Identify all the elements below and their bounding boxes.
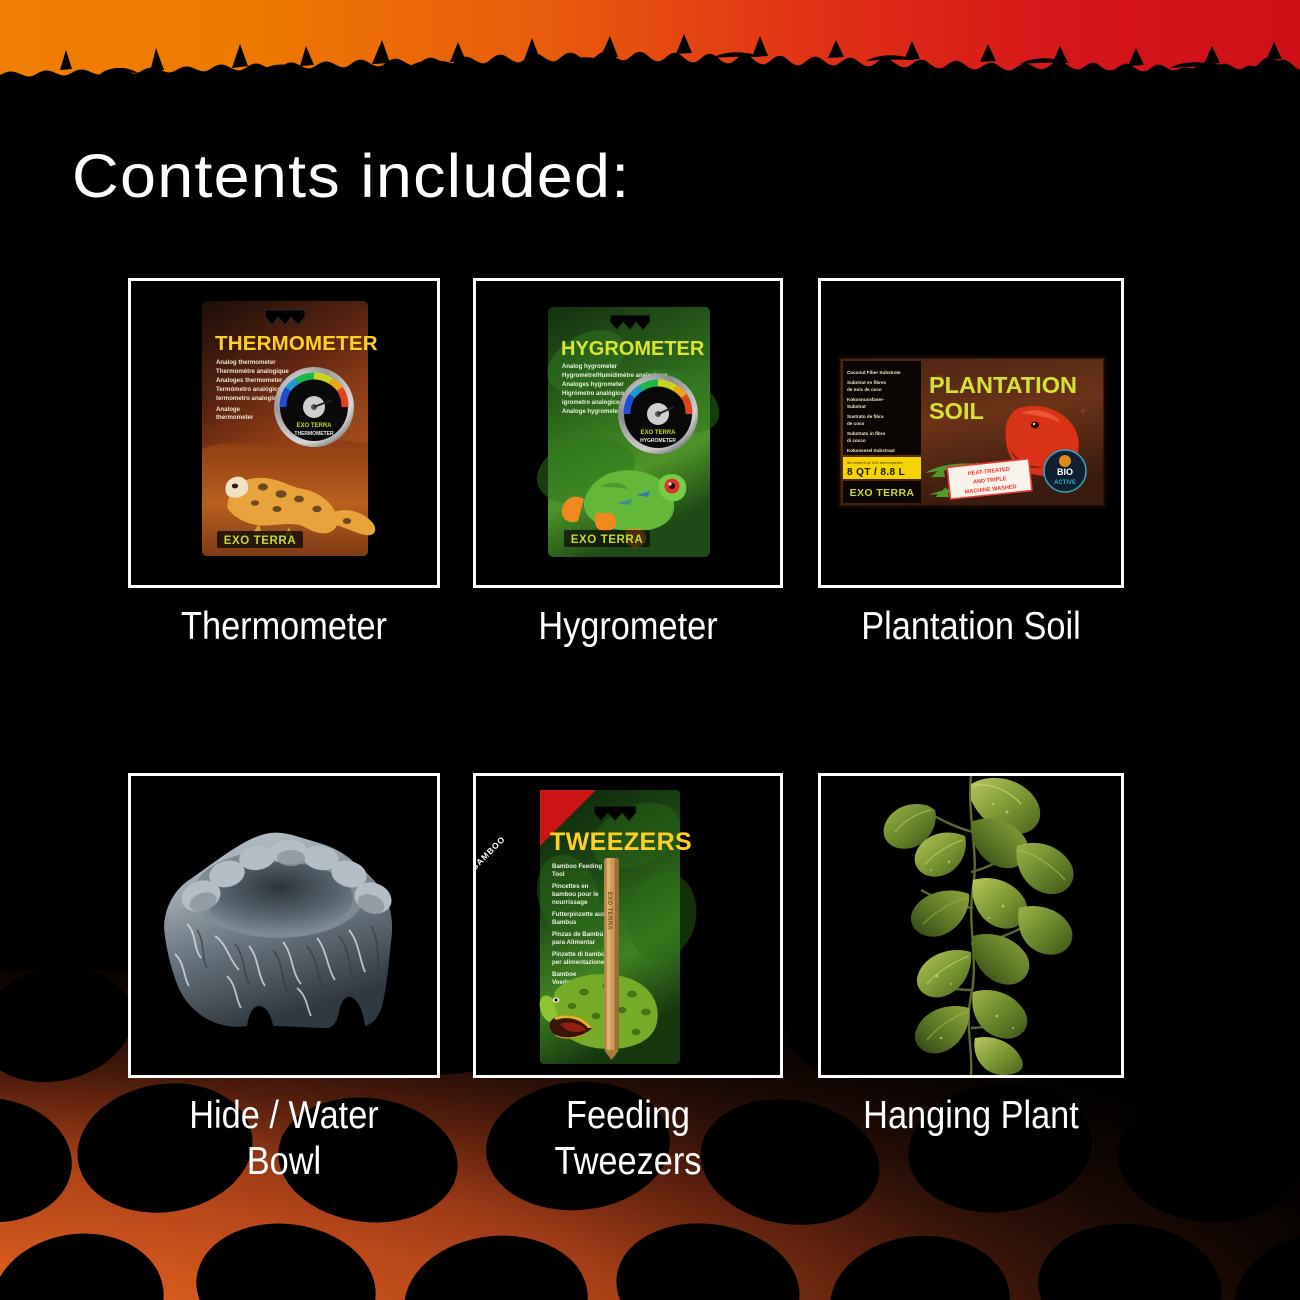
svg-text:thermometer: thermometer	[216, 414, 254, 421]
svg-text:Pinzette di bambù: Pinzette di bambù	[552, 951, 605, 958]
svg-text:EXO TERRA: EXO TERRA	[571, 534, 644, 546]
analog-gauge-graphic: EXO TERRA THERMOMETER	[274, 367, 354, 447]
svg-text:Bamboo Feeding: Bamboo Feeding	[552, 863, 602, 870]
svg-text:EXO TERRA: EXO TERRA	[224, 535, 297, 547]
svg-text:Net content 8 qt / 8.8 L when: Net content 8 qt / 8.8 L when expanded	[847, 461, 903, 465]
svg-text:igrometro analogico: igrometro analogico	[562, 400, 620, 406]
svg-text:EXO TERRA: EXO TERRA	[296, 423, 332, 429]
svg-text:bambou pour le: bambou pour le	[552, 891, 599, 898]
thermometer-title: THERMOMETER	[215, 332, 378, 355]
hanging-plant-illustration	[821, 776, 1121, 1075]
svg-text:Analoge hygrometer: Analoge hygrometer	[562, 409, 621, 415]
product-image-hanging-plant[interactable]	[818, 773, 1124, 1078]
svg-text:Termómetro analógico: Termómetro analógico	[216, 386, 282, 393]
hygrometer-title: HYGROMETER	[561, 338, 705, 360]
svg-text:HYGROMETER: HYGROMETER	[640, 438, 676, 444]
svg-text:Coconut Fiber Substrate: Coconut Fiber Substrate	[847, 370, 901, 375]
contents-included-page: Contents included:	[0, 0, 1300, 1300]
svg-text:de coco: de coco	[847, 421, 865, 426]
product-image-hygrometer[interactable]: HYGROMETER Analog hygrometer Hygromètre/…	[473, 278, 783, 588]
svg-text:Analog thermometer: Analog thermometer	[216, 359, 276, 366]
svg-text:Bamboe: Bamboe	[552, 971, 577, 978]
thermometer-package-illustration: THERMOMETER Analog thermometer Thermomèt…	[131, 281, 437, 585]
svg-text:nourrissage: nourrissage	[552, 899, 588, 906]
torn-edge-graphic	[0, 0, 1300, 92]
svg-text:EXO TERRA: EXO TERRA	[850, 487, 915, 499]
svg-text:termometro analogico: termometro analogico	[216, 395, 280, 402]
svg-text:de noix de coco: de noix de coco	[847, 387, 882, 392]
plantation-soil-title-line1: PLANTATION	[929, 372, 1077, 398]
svg-text:di cocco: di cocco	[847, 438, 866, 443]
product-image-thermometer[interactable]: THERMOMETER Analog thermometer Thermomèt…	[128, 278, 440, 588]
svg-text:Tool: Tool	[552, 871, 565, 878]
svg-text:Substrat en fibres: Substrat en fibres	[847, 380, 887, 385]
caption-hygrometer: Hygrometer	[474, 604, 782, 650]
product-image-hide-water-bowl[interactable]	[128, 773, 440, 1078]
svg-text:Bambus: Bambus	[552, 919, 577, 926]
exo-terra-logo-hygrometer: EXO TERRA	[564, 530, 650, 547]
bamboo-tweezers-package-illustration: BAMBOO TWEEZERS Bamboo Feeding Tool Pinc…	[476, 776, 780, 1075]
caption-hanging-plant: Hanging Plant	[819, 1093, 1123, 1139]
svg-text:ACTIVE: ACTIVE	[1054, 480, 1076, 486]
plantation-soil-title-line2: SOIL	[929, 398, 984, 424]
tweezers-title: TWEEZERS	[550, 828, 692, 856]
svg-text:Higrómetro analógico: Higrómetro analógico	[562, 391, 624, 397]
bamboo-tweezer-product: EXO TERRA	[604, 858, 619, 1060]
svg-text:Pincettes en: Pincettes en	[552, 883, 589, 890]
svg-text:THERMOMETER: THERMOMETER	[294, 431, 334, 437]
header-banner	[0, 0, 1300, 92]
svg-text:Futterpinzette aus: Futterpinzette aus	[552, 911, 606, 918]
hygrometer-package-illustration: HYGROMETER Analog hygrometer Hygromètre/…	[476, 281, 780, 585]
svg-text:per alimentazione: per alimentazione	[552, 959, 605, 966]
svg-text:Sustrato de fibra: Sustrato de fibra	[847, 414, 884, 419]
svg-text:Kokosvezel Substraat: Kokosvezel Substraat	[847, 448, 895, 453]
svg-text:Analoge: Analoge	[216, 406, 241, 413]
rock-hide-water-bowl-illustration	[131, 776, 437, 1075]
svg-text:EXO TERRA: EXO TERRA	[640, 430, 676, 436]
svg-text:Analoges hygrometer: Analoges hygrometer	[562, 382, 624, 388]
svg-text:Substrat: Substrat	[847, 404, 866, 409]
plantation-soil-package-illustration: Coconut Fiber Substrate Substrat en fibr…	[821, 281, 1121, 585]
caption-feeding-tweezers: Feeding Tweezers	[474, 1093, 782, 1185]
svg-text:Substrato in fibra: Substrato in fibra	[847, 431, 885, 436]
page-title: Contents included:	[72, 141, 631, 211]
svg-text:Kokosnussfaser-: Kokosnussfaser-	[847, 397, 885, 402]
svg-text:BIO: BIO	[1057, 467, 1073, 477]
svg-text:Thermomètre analogique: Thermomètre analogique	[216, 368, 289, 375]
exo-terra-logo-thermometer: EXO TERRA	[217, 531, 303, 548]
svg-text:EXO TERRA: EXO TERRA	[606, 892, 612, 931]
svg-text:Analog hygrometer: Analog hygrometer	[562, 364, 618, 370]
analog-gauge-graphic: EXO TERRA HYGROMETER	[618, 374, 698, 454]
caption-plantation-soil: Plantation Soil	[819, 604, 1123, 650]
caption-thermometer: Thermometer	[129, 604, 439, 650]
product-image-plantation-soil[interactable]: Coconut Fiber Substrate Substrat en fibr…	[818, 278, 1124, 588]
svg-text:Analoges thermometer: Analoges thermometer	[216, 377, 283, 384]
svg-text:para Alimentar: para Alimentar	[552, 939, 596, 946]
soil-volume-label: 8 QT / 8.8 L	[847, 467, 905, 478]
svg-text:Pinzas de Bambú: Pinzas de Bambú	[552, 931, 603, 938]
product-image-feeding-tweezers[interactable]: BAMBOO TWEEZERS Bamboo Feeding Tool Pinc…	[473, 773, 783, 1078]
caption-hide-water-bowl: Hide / Water Bowl	[129, 1093, 439, 1185]
bio-active-badge: BIO ACTIVE	[1044, 450, 1086, 492]
